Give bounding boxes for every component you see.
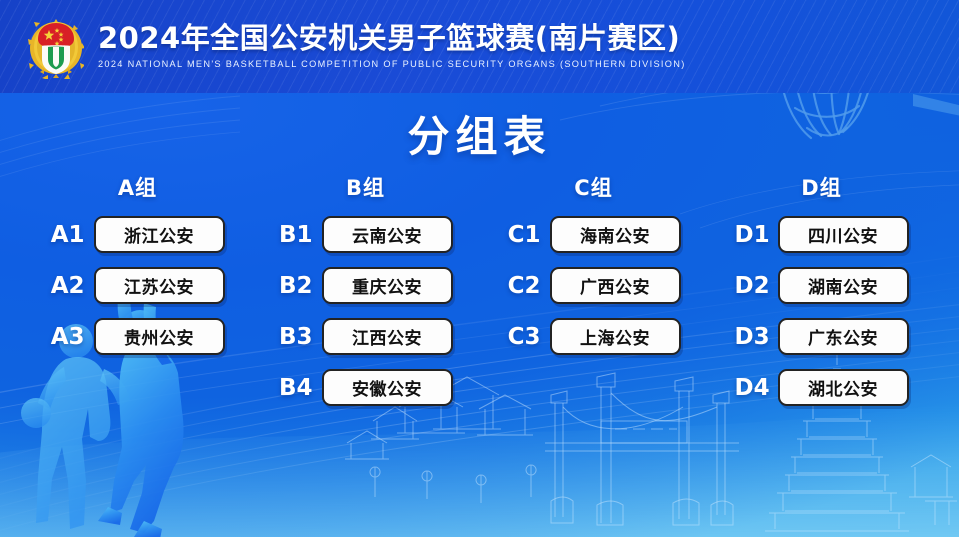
event-title-cn: 2024年全国公安机关男子篮球赛(南片赛区) [98, 24, 686, 53]
header-band: 2024年全国公安机关男子篮球赛(南片赛区) 2024 NATIONAL MEN… [0, 0, 959, 93]
table-row[interactable]: B3 江西公安 [279, 318, 453, 355]
group-column-a: A组 A1 浙江公安 A2 江苏公安 A3 贵州公安 [24, 172, 252, 355]
group-title-a: A组 [118, 172, 157, 202]
table-row[interactable]: A1 浙江公安 [51, 216, 225, 253]
team-chip[interactable]: 海南公安 [550, 216, 681, 253]
table-row[interactable]: A2 江苏公安 [51, 267, 225, 304]
seed-label: B2 [279, 273, 313, 299]
seed-label: C3 [507, 324, 541, 350]
group-title-b: B组 [346, 172, 385, 202]
team-chip[interactable]: 湖南公安 [778, 267, 909, 304]
seed-label: D3 [735, 324, 769, 350]
seed-label: B4 [279, 375, 313, 401]
group-title-c: C组 [574, 172, 612, 202]
table-row[interactable]: A3 贵州公安 [51, 318, 225, 355]
group-title-d: D组 [801, 172, 841, 202]
table-row[interactable]: D4 湖北公安 [735, 369, 909, 406]
seed-label: A3 [51, 324, 85, 350]
team-chip[interactable]: 广东公安 [778, 318, 909, 355]
seed-label: D1 [735, 222, 769, 248]
poster-root: 2024年全国公安机关男子篮球赛(南片赛区) 2024 NATIONAL MEN… [0, 0, 959, 537]
table-row[interactable]: C3 上海公安 [507, 318, 681, 355]
table-row[interactable]: C1 海南公安 [507, 216, 681, 253]
table-row[interactable]: B1 云南公安 [279, 216, 453, 253]
team-chip[interactable]: 重庆公安 [322, 267, 453, 304]
seed-label: C2 [507, 273, 541, 299]
seed-label: D2 [735, 273, 769, 299]
team-chip[interactable]: 湖北公安 [778, 369, 909, 406]
team-chip[interactable]: 江苏公安 [94, 267, 225, 304]
team-chip[interactable]: 云南公安 [322, 216, 453, 253]
team-chip[interactable]: 江西公安 [322, 318, 453, 355]
groups-container: A组 A1 浙江公安 A2 江苏公安 A3 贵州公安 B组 [0, 172, 959, 432]
team-chip[interactable]: 安徽公安 [322, 369, 453, 406]
table-row[interactable]: D2 湖南公安 [735, 267, 909, 304]
group-c-rows: C1 海南公安 C2 广西公安 C3 上海公安 [480, 216, 708, 355]
team-chip[interactable]: 贵州公安 [94, 318, 225, 355]
page-title: 分组表 [0, 103, 959, 164]
table-row[interactable]: C2 广西公安 [507, 267, 681, 304]
group-column-b: B组 B1 云南公安 B2 重庆公安 B3 江西公安 B4 安徽公安 [252, 172, 480, 406]
team-chip[interactable]: 四川公安 [778, 216, 909, 253]
group-a-rows: A1 浙江公安 A2 江苏公安 A3 贵州公安 [24, 216, 252, 355]
team-chip[interactable]: 上海公安 [550, 318, 681, 355]
table-row[interactable]: B2 重庆公安 [279, 267, 453, 304]
seed-label: A1 [51, 222, 85, 248]
group-column-c: C组 C1 海南公安 C2 广西公安 C3 上海公安 [480, 172, 708, 355]
seed-label: D4 [735, 375, 769, 401]
table-row[interactable]: D3 广东公安 [735, 318, 909, 355]
event-title-en: 2024 NATIONAL MEN'S BASKETBALL COMPETITI… [98, 60, 686, 69]
group-b-rows: B1 云南公安 B2 重庆公安 B3 江西公安 B4 安徽公安 [252, 216, 480, 406]
group-column-d: D组 D1 四川公安 D2 湖南公安 D3 广东公安 D4 湖北公安 [708, 172, 936, 406]
team-chip[interactable]: 浙江公安 [94, 216, 225, 253]
seed-label: B3 [279, 324, 313, 350]
seed-label: A2 [51, 273, 85, 299]
group-d-rows: D1 四川公安 D2 湖南公安 D3 广东公安 D4 湖北公安 [708, 216, 936, 406]
table-row[interactable]: B4 安徽公安 [279, 369, 453, 406]
china-police-emblem [28, 17, 84, 79]
seed-label: B1 [279, 222, 313, 248]
team-chip[interactable]: 广西公安 [550, 267, 681, 304]
seed-label: C1 [507, 222, 541, 248]
table-row[interactable]: D1 四川公安 [735, 216, 909, 253]
